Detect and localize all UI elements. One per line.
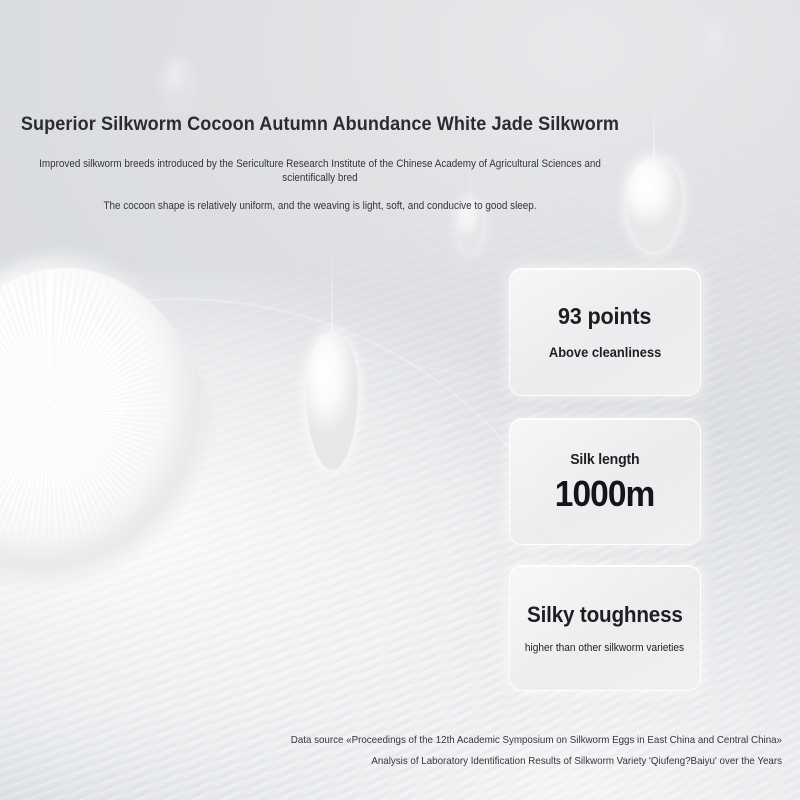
- footer-line-2: Analysis of Laboratory Identification Re…: [55, 751, 782, 772]
- stat-label-toughness: Silky toughness: [527, 601, 683, 628]
- stat-value-silk-length: 1000m: [555, 474, 655, 514]
- copy-block: Superior Silkworm Cocoon Autumn Abundanc…: [0, 0, 640, 213]
- footer-line-1: Data source «Proceedings of the 12th Aca…: [55, 730, 782, 751]
- silk-thread: [654, 96, 655, 158]
- cocoon-mid: [306, 240, 358, 470]
- subtitle-line-2: The cocoon shape is relatively uniform, …: [32, 185, 608, 213]
- cocoon-pod: [306, 332, 358, 470]
- silk-thread: [716, 0, 717, 26]
- stat-card-silk-length[interactable]: Silk length 1000m: [509, 418, 701, 545]
- silk-thread: [332, 240, 333, 332]
- stat-label-silk-length: Silk length: [570, 450, 639, 470]
- big-cocoon: [0, 268, 220, 648]
- cocoon-pod: [705, 26, 727, 68]
- stat-detail-toughness: higher than other silkworm varieties: [525, 641, 684, 656]
- product-infographic: Superior Silkworm Cocoon Autumn Abundanc…: [0, 0, 800, 800]
- stat-card-list: 93 points Above cleanliness Silk length …: [509, 268, 701, 691]
- stat-label-cleanliness: Above cleanliness: [549, 342, 661, 362]
- cocoon-ghost: [705, 0, 727, 68]
- page-title: Superior Silkworm Cocoon Autumn Abundanc…: [16, 0, 624, 137]
- stat-card-toughness[interactable]: Silky toughness higher than other silkwo…: [509, 565, 701, 691]
- stat-value-cleanliness: 93 points: [558, 302, 651, 330]
- footer-source: Data source «Proceedings of the 12th Aca…: [0, 730, 782, 772]
- subtitle-line-1: Improved silkworm breeds introduced by t…: [32, 137, 608, 185]
- stat-card-cleanliness[interactable]: 93 points Above cleanliness: [509, 268, 701, 396]
